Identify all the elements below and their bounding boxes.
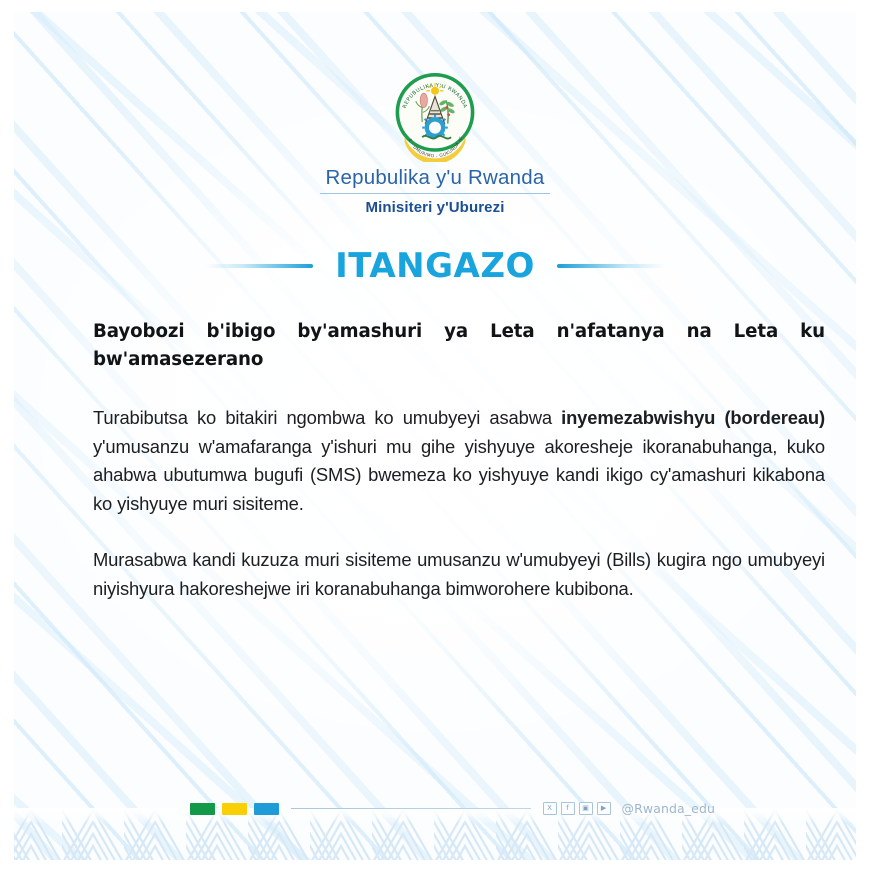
header-logo-block: REPUBULIKA Y'U RWANDA bbox=[0, 66, 870, 216]
rwanda-coat-of-arms-icon: REPUBULIKA Y'U RWANDA bbox=[387, 66, 483, 162]
paragraph-1-part-1: Turabibutsa ko bitakiri ngombwa ko umuby… bbox=[93, 407, 561, 428]
poster-content: REPUBULIKA Y'U RWANDA bbox=[0, 0, 870, 870]
flag-color-swatches bbox=[190, 803, 279, 815]
flag-swatch-yellow bbox=[222, 803, 247, 815]
notice-paragraph-2: Murasabwa kandi kuzuza muri sisiteme umu… bbox=[93, 546, 825, 603]
social-handle[interactable]: @Rwanda_edu bbox=[622, 801, 715, 816]
flag-swatch-green bbox=[190, 803, 215, 815]
social-links: X f ▣ ▶ @Rwanda_edu bbox=[543, 801, 715, 816]
gradient-rule-right-icon bbox=[557, 264, 665, 268]
notice-heading: Bayobozi b'ibigo by'amashuri ya Leta n'a… bbox=[93, 318, 825, 373]
title-row: ITANGAZO bbox=[0, 246, 870, 286]
notice-poster: REPUBULIKA Y'U RWANDA bbox=[0, 0, 870, 870]
facebook-icon[interactable]: f bbox=[561, 802, 575, 815]
x-twitter-icon[interactable]: X bbox=[543, 802, 557, 815]
gradient-rule-left-icon bbox=[205, 264, 313, 268]
notice-body: Bayobozi b'ibigo by'amashuri ya Leta n'a… bbox=[93, 318, 825, 603]
instagram-icon[interactable]: ▣ bbox=[579, 802, 593, 815]
paragraph-1-bold-term: inyemezabwishyu (bordereau) bbox=[561, 407, 825, 428]
notice-paragraph-1: Turabibutsa ko bitakiri ngombwa ko umuby… bbox=[93, 404, 825, 518]
poster-footer: X f ▣ ▶ @Rwanda_edu bbox=[190, 801, 715, 816]
page-title: ITANGAZO bbox=[335, 246, 535, 286]
paragraph-1-part-2: y'umusanzu w'amafaranga y'ishuri mu gihe… bbox=[93, 436, 825, 514]
footer-divider-rule bbox=[291, 808, 531, 809]
country-name-label: Repubulika y'u Rwanda bbox=[320, 166, 551, 194]
flag-swatch-blue bbox=[254, 803, 279, 815]
ministry-name-label: Minisiteri y'Uburezi bbox=[0, 199, 870, 216]
youtube-icon[interactable]: ▶ bbox=[597, 802, 611, 815]
